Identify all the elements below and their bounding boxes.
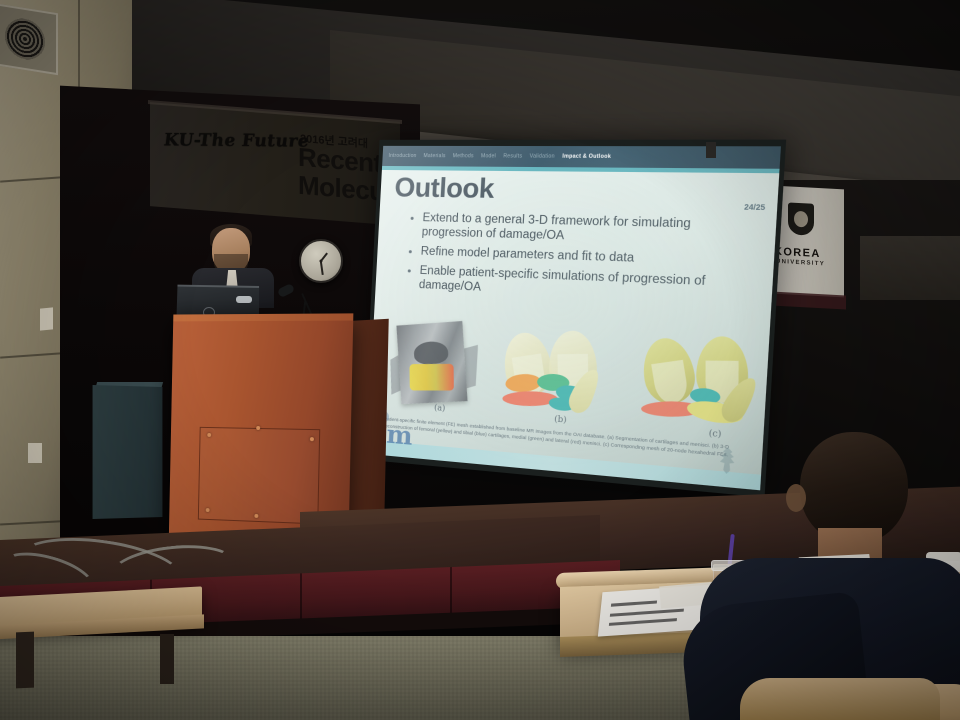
nav-item-active[interactable]: Impact & Outlook <box>562 153 611 160</box>
projection-screen: Introduction Materials Methods Model Res… <box>371 140 745 460</box>
desk-left-leg <box>160 634 174 684</box>
attendee-ear <box>786 484 806 512</box>
presentation-room-photo: KU-The Future 2016년 고려대 Recent Molecu ri… <box>0 0 960 720</box>
figure-panel-b: (b) <box>499 325 628 432</box>
ceiling-speaker-icon <box>0 3 58 75</box>
audience-member <box>690 432 960 720</box>
figure-panel-c: (c) <box>637 332 776 444</box>
slide-navigation-bar: Introduction Materials Methods Model Res… <box>382 146 781 169</box>
figure-panel-a: (a) <box>388 319 486 421</box>
desk-left-leg <box>16 632 34 689</box>
org-name: KOREA <box>774 246 821 260</box>
korea-university-shield-icon <box>784 202 818 246</box>
nav-item[interactable]: Results <box>503 153 522 159</box>
list-item: Extend to a general 3-D framework for si… <box>406 211 755 249</box>
nav-item[interactable]: Introduction <box>388 153 416 159</box>
figure-label-a: (a) <box>434 403 446 413</box>
list-item: Enable patient-specific simulations of p… <box>403 263 752 307</box>
figure-label-b: (b) <box>554 414 567 424</box>
wall-clock-icon <box>299 239 343 283</box>
slide-bullet-list: Extend to a general 3-D framework for si… <box>402 211 754 313</box>
banner-handwriting: KU-The Future <box>163 130 309 151</box>
slide-title: Outlook <box>394 172 495 205</box>
screen-mount <box>706 142 716 158</box>
nav-item[interactable]: Materials <box>423 153 445 159</box>
nav-item[interactable]: Model <box>481 153 496 159</box>
right-wall-panel <box>860 236 960 300</box>
nav-item[interactable]: Validation <box>529 153 555 159</box>
nav-item[interactable]: Methods <box>453 153 474 159</box>
org-subtitle: UNIVERSITY <box>776 259 825 268</box>
laptop-badge <box>236 296 252 303</box>
slide-page-number: 24/25 <box>744 204 765 212</box>
amplifier-case <box>93 385 163 519</box>
wall-outlet <box>28 443 42 463</box>
wall-plate <box>40 307 53 330</box>
chair-back <box>740 678 940 720</box>
